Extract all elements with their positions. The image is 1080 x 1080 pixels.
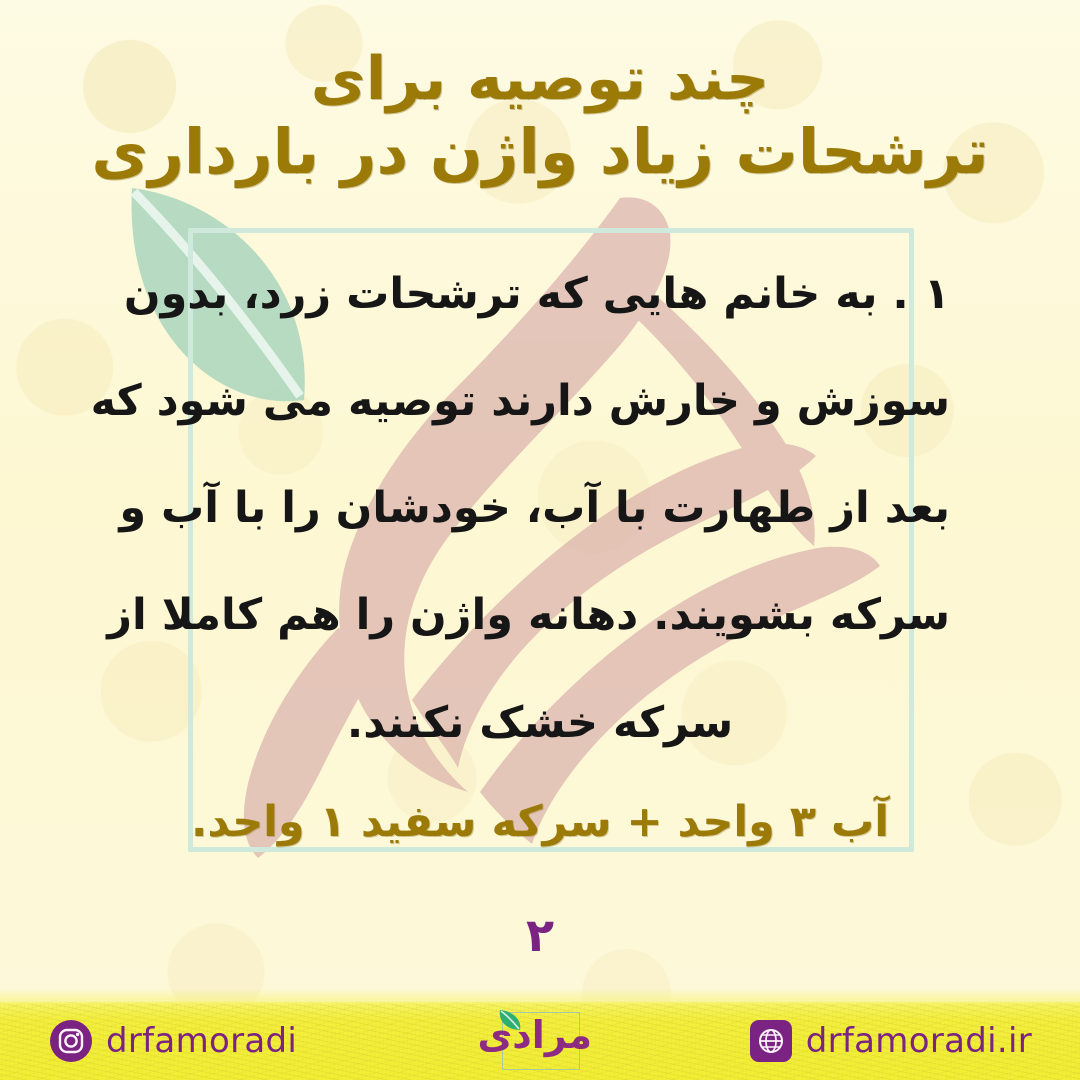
instagram-icon[interactable] — [50, 1020, 92, 1062]
page-title: چند توصیه برای ترشحات زیاد واژن در باردا… — [0, 44, 1080, 188]
title-line-1: چند توصیه برای — [0, 44, 1080, 115]
brand-logo: مرادی — [488, 1008, 592, 1074]
instagram-handle[interactable]: drfamoradi — [106, 1024, 297, 1058]
globe-icon[interactable] — [750, 1020, 792, 1062]
recipe-highlight: آب ۳ واحد + سرکه سفید ۱ واحد. — [130, 800, 950, 845]
page-number: ۲ — [0, 908, 1080, 962]
instagram-link[interactable]: drfamoradi — [50, 1020, 297, 1062]
footer-bar: drfamoradi مرادی drfamoradi.ir — [0, 1002, 1080, 1080]
body-line-5: سرکه خشک نکنند. — [130, 701, 950, 746]
body-line-2: سوزش و خارش دارند توصیه می شود که — [130, 379, 950, 424]
website-link[interactable]: drfamoradi.ir — [750, 1020, 1032, 1062]
infographic-poster: چند توصیه برای ترشحات زیاد واژن در باردا… — [0, 0, 1080, 1080]
title-line-2: ترشحات زیاد واژن در بارداری — [0, 115, 1080, 188]
body-line-3: بعد از طهارت با آب، خودشان را با آب و — [130, 486, 950, 531]
website-url[interactable]: drfamoradi.ir — [806, 1024, 1032, 1058]
body-line-1: ۱ . به خانم هایی که ترشحات زرد، بدون — [130, 272, 950, 317]
body-content: ۱ . به خانم هایی که ترشحات زرد، بدون سوز… — [130, 272, 950, 845]
body-line-4: سرکه بشویند. دهانه واژن را هم کاملا از — [130, 593, 950, 638]
logo-wordmark: مرادی — [488, 1016, 592, 1054]
